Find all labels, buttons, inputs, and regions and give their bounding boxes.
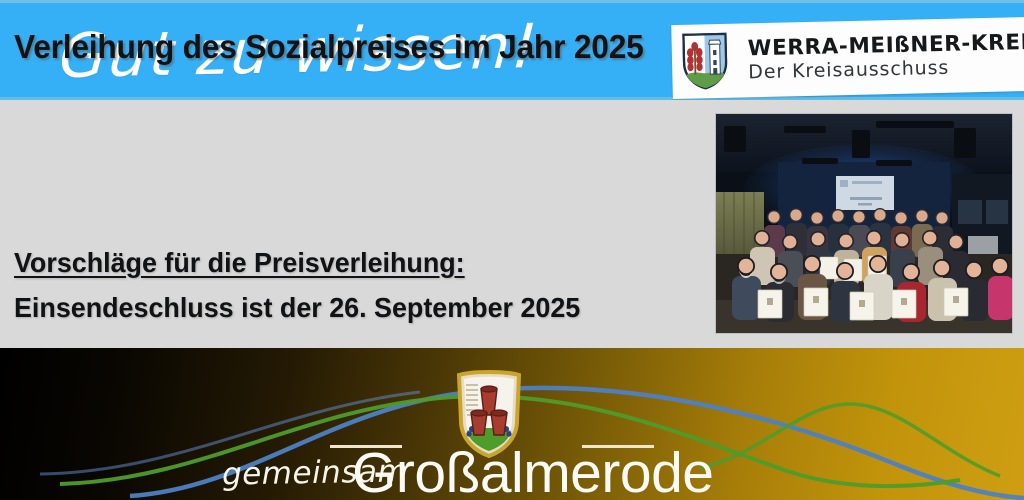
werra-meissner-kreis-logo: WERRA-MEIßNER-KREIS Der Kreisausschuss [671,17,1024,99]
coat-of-arms-icon [671,24,735,99]
deadline-text: Einsendeschluss ist der 26. September 20… [14,292,580,324]
logo-title: WERRA-MEIßNER-KREIS [748,31,1024,61]
logo-divider [735,33,736,89]
proposals-heading: Vorschläge für die Preisverleihung: [14,247,465,279]
coat-of-arms-svg [681,32,728,91]
group-photo-svg [716,114,1012,333]
logo-text-block: WERRA-MEIßNER-KREIS Der Kreisausschuss [748,31,1024,83]
page-title: Verleihung des Sozialpreises im Jahr 202… [14,28,644,66]
group-photo-award-ceremony [716,114,1012,333]
logo-subtitle: Der Kreisausschuss [748,56,1024,83]
footer-town-name: Großalmerode [352,440,713,500]
poster: Gut zu wissen! [0,0,1024,500]
